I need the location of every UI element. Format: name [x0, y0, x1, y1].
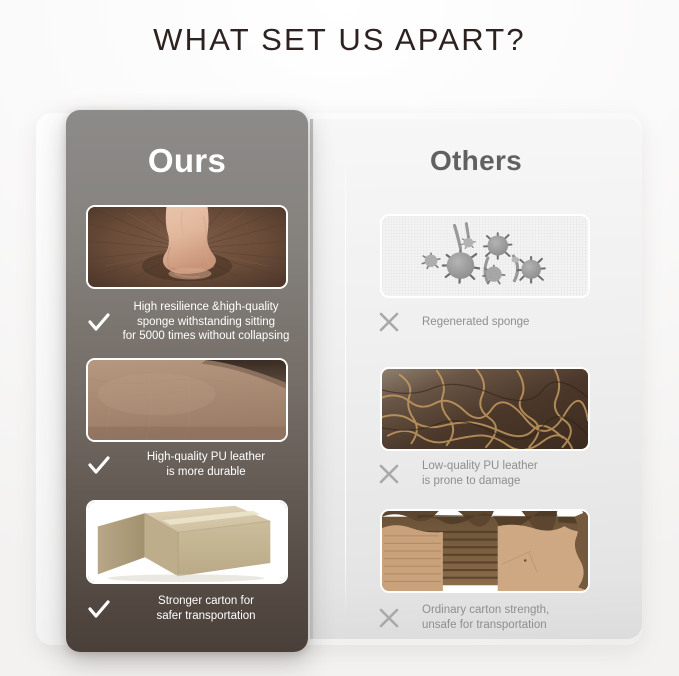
others-feature-2-line1: Low-quality PU leather [422, 460, 538, 472]
check-icon [86, 452, 112, 478]
ours-feature-text-1: High resilience &high-quality sponge wit… [120, 300, 292, 344]
others-feature-text-1: Regenerated sponge [410, 315, 626, 330]
others-feature-3-line1: Ordinary carton strength, [422, 604, 549, 616]
ours-feature-row-3: Stronger carton for safer transportation [86, 594, 292, 623]
check-icon [86, 596, 112, 622]
smooth-pu-leather-image [86, 358, 288, 442]
others-feature-2-line2: is prone to damage [422, 475, 520, 487]
others-column-panel: Others [310, 119, 642, 639]
others-feature-row-3: Ordinary carton strength, unsafe for tra… [376, 603, 626, 632]
ours-feature-2-line1: High-quality PU leather [147, 451, 265, 463]
column-divider [345, 140, 346, 618]
ours-feature-row-2: High-quality PU leather is more durable [86, 450, 292, 479]
ours-feature-2-line2: is more durable [166, 466, 245, 478]
ours-feature-1-line1: High resilience &high-quality [133, 301, 278, 313]
ours-feature-text-2: High-quality PU leather is more durable [120, 450, 292, 479]
others-feature-text-3: Ordinary carton strength, unsafe for tra… [410, 603, 626, 632]
foot-pressing-sponge-image [86, 205, 288, 289]
ours-column-heading: Ours [66, 142, 308, 180]
cracked-peeling-leather-image [380, 367, 590, 451]
ours-feature-row-1: High resilience &high-quality sponge wit… [86, 300, 292, 344]
page-title: WHAT SET US APART? [0, 22, 679, 58]
ours-feature-1-line3: for 5000 times without collapsing [123, 330, 290, 342]
others-column-heading: Others [310, 145, 642, 177]
others-feature-row-2: Low-quality PU leather is prone to damag… [376, 459, 626, 488]
others-feature-1-line1: Regenerated sponge [422, 316, 529, 328]
ours-feature-1-line2: sponge withstanding sitting [137, 316, 275, 328]
cross-icon [376, 461, 402, 487]
cross-icon [376, 605, 402, 631]
others-feature-3-line2: unsafe for transportation [422, 619, 547, 631]
ours-column-panel: Ours [66, 110, 308, 652]
others-feature-row-1: Regenerated sponge [376, 309, 626, 335]
torn-corrugated-carton-image [380, 509, 590, 593]
germs-on-mesh-sponge-image [380, 214, 590, 298]
intact-carton-box-image [86, 500, 288, 584]
others-feature-text-2: Low-quality PU leather is prone to damag… [410, 459, 626, 488]
ours-feature-text-3: Stronger carton for safer transportation [120, 594, 292, 623]
ours-feature-3-line1: Stronger carton for [158, 595, 254, 607]
check-icon [86, 309, 112, 335]
ours-feature-3-line2: safer transportation [156, 610, 255, 622]
cross-icon [376, 309, 402, 335]
